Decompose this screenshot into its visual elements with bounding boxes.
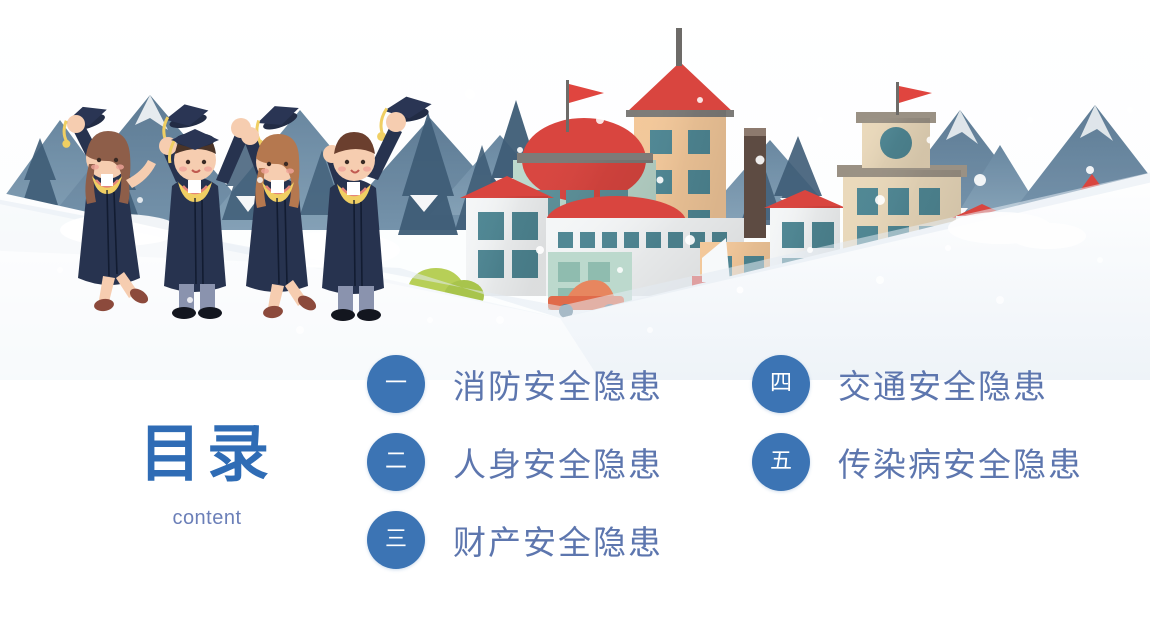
slide-root: 目录 content 一 消防安全隐患 二 人身安全隐患 三 财产安全隐患 四 … bbox=[0, 0, 1150, 635]
toc-right-column: 四 交通安全隐患 五 传染病安全隐患 bbox=[752, 345, 1083, 501]
toc-label-4: 交通安全隐患 bbox=[838, 360, 1048, 408]
toc-number-badge-1: 一 bbox=[367, 355, 425, 413]
toc-number-badge-2: 二 bbox=[367, 433, 425, 491]
toc-item-4[interactable]: 四 交通安全隐患 bbox=[752, 345, 1083, 423]
page-subtitle: content bbox=[92, 507, 322, 530]
toc-item-5[interactable]: 五 传染病安全隐患 bbox=[752, 423, 1083, 501]
toc-number-badge-4: 四 bbox=[752, 355, 810, 413]
title-block: 目录 content bbox=[92, 423, 322, 530]
toc-number-badge-5: 五 bbox=[752, 433, 810, 491]
toc-item-2[interactable]: 二 人身安全隐患 bbox=[367, 423, 663, 501]
winter-campus-illustration bbox=[0, 0, 1150, 380]
toc-item-1[interactable]: 一 消防安全隐患 bbox=[367, 345, 663, 423]
toc-label-5: 传染病安全隐患 bbox=[838, 438, 1083, 486]
toc-content-area: 目录 content 一 消防安全隐患 二 人身安全隐患 三 财产安全隐患 四 … bbox=[0, 345, 1150, 635]
toc-item-3[interactable]: 三 财产安全隐患 bbox=[367, 501, 663, 579]
page-title: 目录 bbox=[92, 423, 322, 485]
toc-label-3: 财产安全隐患 bbox=[453, 516, 663, 564]
toc-label-2: 人身安全隐患 bbox=[453, 438, 663, 486]
toc-left-column: 一 消防安全隐患 二 人身安全隐患 三 财产安全隐患 bbox=[367, 345, 663, 579]
toc-label-1: 消防安全隐患 bbox=[453, 360, 663, 408]
toc-number-badge-3: 三 bbox=[367, 511, 425, 569]
